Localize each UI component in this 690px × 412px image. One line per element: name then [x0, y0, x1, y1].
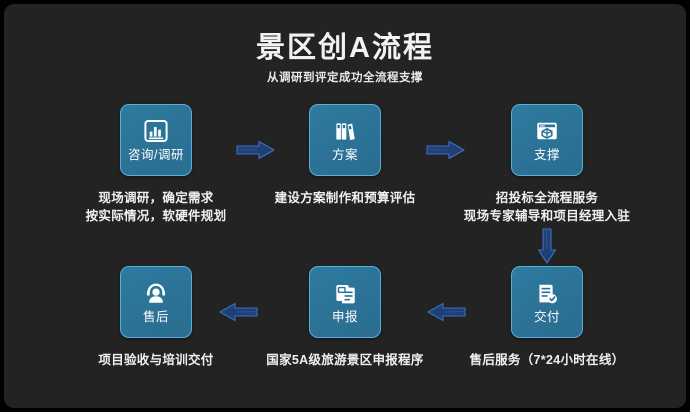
caption-line-1: 现场调研，确定需求 [56, 189, 256, 207]
caption-line-1: 售后服务（7*24小时在线） [447, 351, 647, 369]
flow-caption-aftersales: 项目验收与培训交付 [56, 351, 256, 369]
flow-caption-support: 招投标全流程服务 现场专家辅导和项目经理入驻 [447, 189, 647, 225]
flow-card-label: 申报 [332, 310, 358, 325]
flow-card-label: 咨询/调研 [128, 148, 184, 163]
caption-line-1: 项目验收与培训交付 [56, 351, 256, 369]
flow-card-label: 支撑 [534, 148, 560, 163]
flow-card-label: 售后 [143, 310, 169, 325]
flow-card-support[interactable]: 支撑 [511, 104, 583, 176]
page-title: 景区创A流程 [4, 30, 686, 66]
flow-card-aftersales[interactable]: 售后 [120, 266, 192, 338]
flow-row-top: 咨询/调研 现场调研，确定需求 按实际情况，软硬件规划 [4, 104, 686, 234]
headset-user-icon [143, 280, 169, 306]
bar-chart-icon [143, 118, 169, 144]
flow-caption-plan: 建设方案制作和预算评估 [245, 189, 445, 207]
caption-line-2: 现场专家辅导和项目经理入驻 [447, 207, 647, 225]
flow-card-label: 方案 [332, 148, 358, 163]
flow-caption-delivery: 售后服务（7*24小时在线） [447, 351, 647, 369]
caption-line-1: 国家5A级旅游景区申报程序 [245, 351, 445, 369]
flow-caption-research: 现场调研，确定需求 按实际情况，软硬件规划 [56, 189, 256, 225]
document-check-icon [534, 280, 560, 306]
flow-node-delivery[interactable]: 交付 售后服务（7*24小时在线） [447, 266, 647, 369]
flow-card-plan[interactable]: 方案 [309, 104, 381, 176]
caption-line-2: 按实际情况，软硬件规划 [56, 207, 256, 225]
flow-card-delivery[interactable]: 交付 [511, 266, 583, 338]
page-subtitle: 从调研到评定成功全流程支撑 [4, 69, 686, 87]
flow-card-research[interactable]: 咨询/调研 [120, 104, 192, 176]
window-cube-icon [534, 118, 560, 144]
caption-line-1: 招投标全流程服务 [447, 189, 647, 207]
caption-line-1: 建设方案制作和预算评估 [245, 189, 445, 207]
diagram-header: 景区创A流程 从调研到评定成功全流程支撑 [4, 30, 686, 87]
documents-icon [332, 280, 358, 306]
books-icon [332, 118, 358, 144]
flow-caption-declaration: 国家5A级旅游景区申报程序 [245, 351, 445, 369]
flow-card-label: 交付 [534, 310, 560, 325]
flow-node-declaration[interactable]: 申报 国家5A级旅游景区申报程序 [245, 266, 445, 369]
flow-node-plan[interactable]: 方案 建设方案制作和预算评估 [245, 104, 445, 207]
flow-node-support[interactable]: 支撑 招投标全流程服务 现场专家辅导和项目经理入驻 [447, 104, 647, 225]
flow-diagram-panel: 景区创A流程 从调研到评定成功全流程支撑 咨询/调研 现场调研，确 [4, 4, 686, 408]
flow-card-declaration[interactable]: 申报 [309, 266, 381, 338]
flow-row-bottom: 售后 项目验收与培训交付 [4, 266, 686, 396]
flow-node-research[interactable]: 咨询/调研 现场调研，确定需求 按实际情况，软硬件规划 [56, 104, 256, 225]
arrow-down-icon-support-to-delivery [534, 226, 560, 266]
